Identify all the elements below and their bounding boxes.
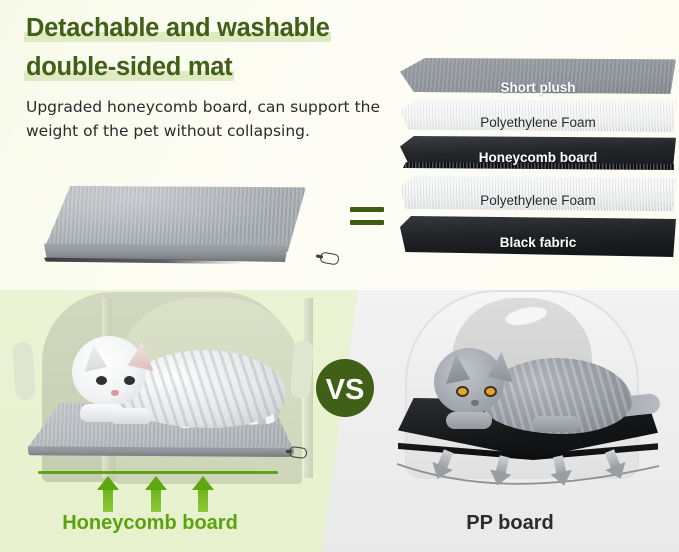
equals-sign-icon [350,205,384,231]
top-section: Detachable and washable double-sided mat… [0,0,679,290]
cat-eye-left [456,386,469,397]
up-arrow-icon [145,476,167,510]
cat-head [72,336,146,406]
zipper-pull-icon [286,447,306,457]
carrier-handle-right [290,339,314,398]
cat-paw-front-right [532,416,580,432]
headline-line-1-text: Detachable and washable [26,14,329,42]
cat-eye-right [484,386,497,397]
cat-ear-left [444,354,470,384]
layer-label: Short plush [501,80,576,95]
cat-nose [471,400,479,406]
cat-head [434,348,504,414]
headline-line-2: double-sided mat [26,51,232,84]
white-cat-photo [62,320,282,435]
caption-pp-board: PP board [370,512,650,535]
cat-paw-front-left [446,412,492,429]
layer-label: Polyethylene Foam [480,193,596,208]
product-infographic: Detachable and washable double-sided mat… [0,0,679,552]
vs-badge: VS [315,358,375,418]
layer-short-plush: Short plush [400,58,676,104]
comparison-section: Honeycomb board [0,290,679,552]
mat-top-surface [44,186,306,252]
headline-block: Detachable and washable double-sided mat [26,12,406,84]
mat-product-photo [18,186,318,276]
layer-honeycomb-board: Honeycomb board [400,136,676,180]
up-arrow-icon [192,476,214,510]
layer-black-fabric: Black fabric [400,216,676,266]
carrier-handle-left [12,341,36,400]
layer-polyethylene-foam-bottom: Polyethylene Foam [400,176,676,218]
layer-label: Honeycomb board [479,150,598,165]
headline-line-2-text: double-sided mat [26,53,232,81]
layer-stack-diagram: Short plush Polyethylene Foam Honeycomb … [400,58,679,273]
gray-cat-photo [420,330,640,440]
cat-ear-right [128,342,155,371]
layer-label: Polyethylene Foam [480,115,596,130]
cat-ear-left [82,344,107,372]
headline-line-1: Detachable and washable [26,12,329,45]
svg-text:VS: VS [326,374,365,406]
cat-nose [111,390,119,396]
caption-honeycomb-board: Honeycomb board [0,512,300,535]
cat-paw-front-right [110,408,152,424]
layer-polyethylene-foam-top: Polyethylene Foam [400,99,676,139]
layer-label: Black fabric [500,235,577,250]
up-arrow-icon [97,476,119,510]
cat-eye-left [96,376,107,385]
support-line-graphic [38,471,278,474]
zipper-pull-icon [316,252,338,263]
cat-eye-right [124,376,135,385]
subheading-text: Upgraded honeycomb board, can support th… [26,95,386,143]
